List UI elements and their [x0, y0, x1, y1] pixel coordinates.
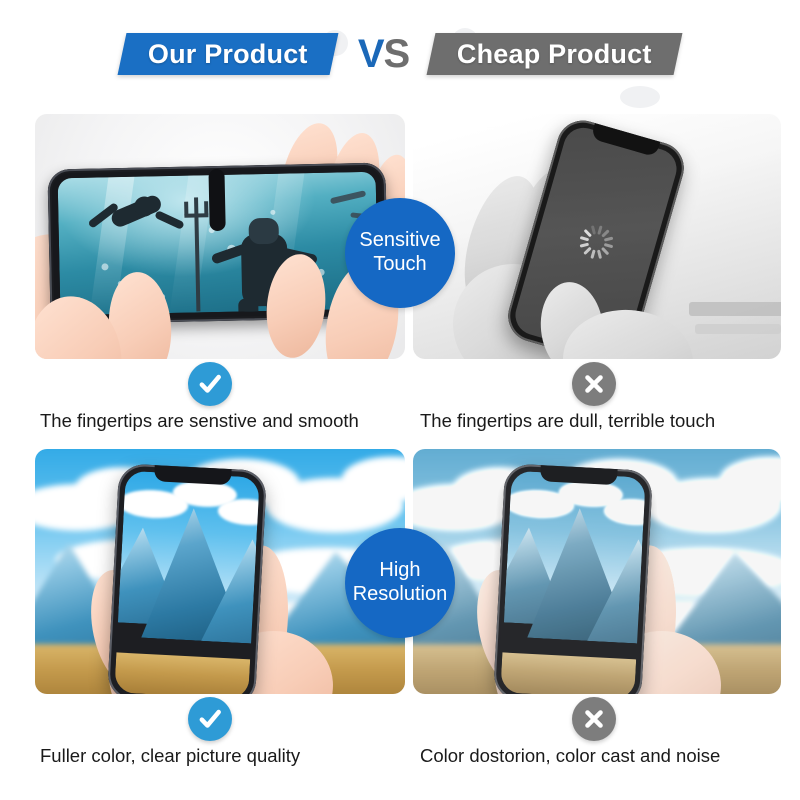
cheap-product-banner: Cheap Product	[427, 33, 683, 75]
diver-arm	[154, 210, 185, 230]
badge-line-1: High	[379, 559, 420, 583]
phone-device	[493, 463, 653, 694]
cross-icon	[572, 362, 616, 406]
background-shelf	[689, 302, 781, 316]
feature-badge-sensitive-touch: Sensitive Touch	[345, 198, 455, 308]
badge-line-2: Resolution	[353, 583, 448, 607]
cheap-product-label: Cheap Product	[457, 39, 652, 70]
phone-device	[107, 463, 267, 694]
photo-cheap-touch	[413, 114, 781, 359]
diver-leg	[238, 298, 259, 315]
caption-ours-touch: The fingertips are senstive and smooth	[40, 410, 359, 432]
background-shelf	[695, 324, 781, 334]
our-product-label: Our Product	[148, 39, 308, 70]
diver-head	[248, 218, 279, 245]
check-icon	[188, 697, 232, 741]
phone-screen	[114, 471, 259, 694]
badge-line-1: Sensitive	[359, 229, 440, 253]
watermark-blob	[620, 86, 660, 108]
versus-s: S	[384, 32, 410, 76]
trident-prong	[204, 201, 208, 215]
feature-badge-high-resolution: High Resolution	[345, 528, 455, 638]
caption-ours-resolution: Fuller color, clear picture quality	[40, 745, 300, 767]
caption-cheap-resolution: Color dostorion, color cast and noise	[420, 745, 720, 767]
panel-cheap-touch	[413, 114, 781, 359]
versus-label: VS	[352, 34, 415, 74]
versus-v: V	[358, 32, 384, 76]
trident-prong	[194, 197, 198, 215]
our-product-banner: Our Product	[118, 33, 339, 75]
panel-cheap-resolution	[413, 449, 781, 694]
phone-screen	[500, 471, 645, 694]
check-icon	[188, 362, 232, 406]
phone-notch	[208, 169, 225, 231]
badge-line-2: Touch	[373, 253, 426, 277]
caption-cheap-touch: The fingertips are dull, terrible touch	[420, 410, 715, 432]
loading-spinner-icon	[575, 221, 617, 263]
fish	[330, 190, 366, 204]
trident-prong	[184, 202, 188, 216]
photo-cheap-resolution	[413, 449, 781, 694]
comparison-header: Our Product VS Cheap Product	[0, 0, 800, 108]
cross-icon	[572, 697, 616, 741]
